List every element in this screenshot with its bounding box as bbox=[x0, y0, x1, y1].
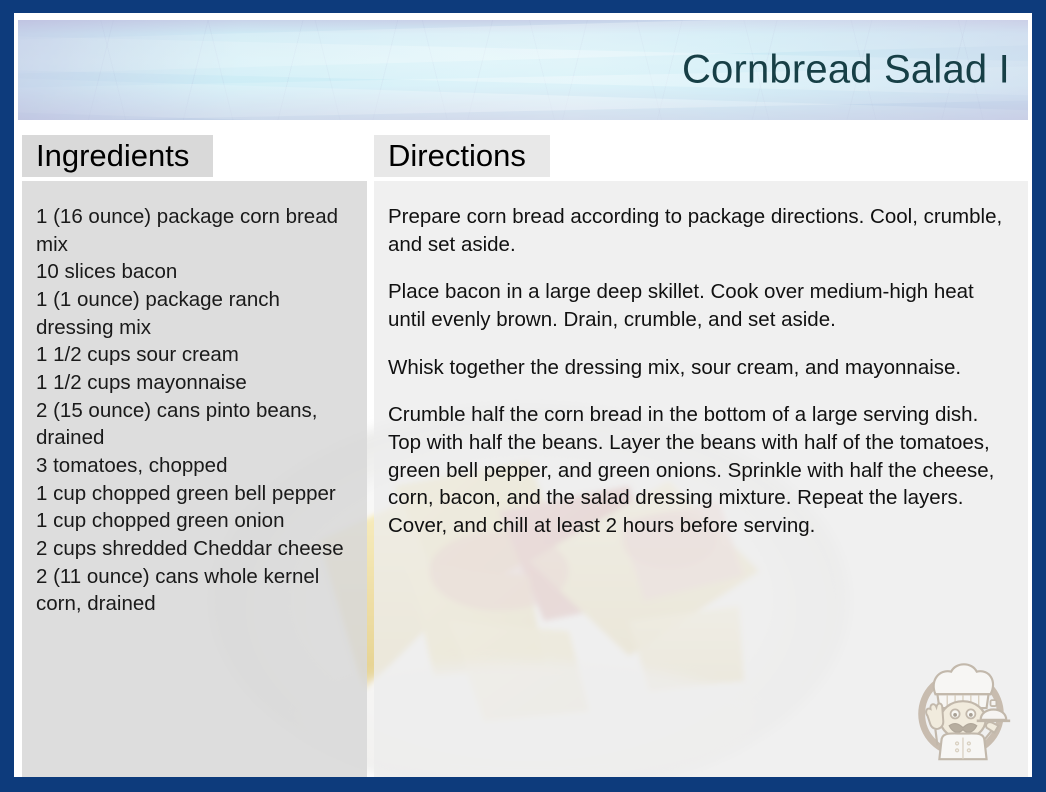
ingredient-item: 1 1/2 cups mayonnaise bbox=[36, 369, 357, 397]
direction-step: Whisk together the dressing mix, sour cr… bbox=[388, 354, 1012, 382]
direction-step: Crumble half the corn bread in the botto… bbox=[388, 401, 1012, 539]
ingredient-item: 3 tomatoes, chopped bbox=[36, 452, 357, 480]
recipe-title: Cornbread Salad I bbox=[682, 48, 1010, 93]
chef-logo bbox=[902, 651, 1020, 769]
ingredient-item: 10 slices bacon bbox=[36, 258, 357, 286]
ingredient-item: 1 (16 ounce) package corn bread mix bbox=[36, 203, 357, 258]
header-banner: Cornbread Salad I bbox=[18, 20, 1028, 120]
ingredient-item: 2 (11 ounce) cans whole kernel corn, dra… bbox=[36, 563, 357, 618]
ingredient-item: 1 (1 ounce) package ranch dressing mix bbox=[36, 286, 357, 341]
ingredient-item: 1 1/2 cups sour cream bbox=[36, 341, 357, 369]
ingredient-item: 1 cup chopped green onion bbox=[36, 507, 357, 535]
ingredient-item: 2 (15 ounce) cans pinto beans, drained bbox=[36, 397, 357, 452]
ingredients-panel: 1 (16 ounce) package corn bread mix 10 s… bbox=[22, 181, 367, 777]
recipe-card: Cornbread Salad I bbox=[0, 0, 1046, 792]
ingredient-item: 1 cup chopped green bell pepper bbox=[36, 480, 357, 508]
direction-step: Prepare corn bread according to package … bbox=[388, 203, 1012, 258]
directions-column: Directions Prepare corn bread according … bbox=[374, 135, 1028, 177]
ingredient-item: 2 cups shredded Cheddar cheese bbox=[36, 535, 357, 563]
card-page: Cornbread Salad I bbox=[14, 13, 1032, 777]
ingredients-column: Ingredients 1 (16 ounce) package corn br… bbox=[22, 135, 367, 177]
direction-step: Place bacon in a large deep skillet. Coo… bbox=[388, 278, 1012, 333]
directions-heading: Directions bbox=[374, 135, 550, 177]
ingredients-heading: Ingredients bbox=[22, 135, 213, 177]
